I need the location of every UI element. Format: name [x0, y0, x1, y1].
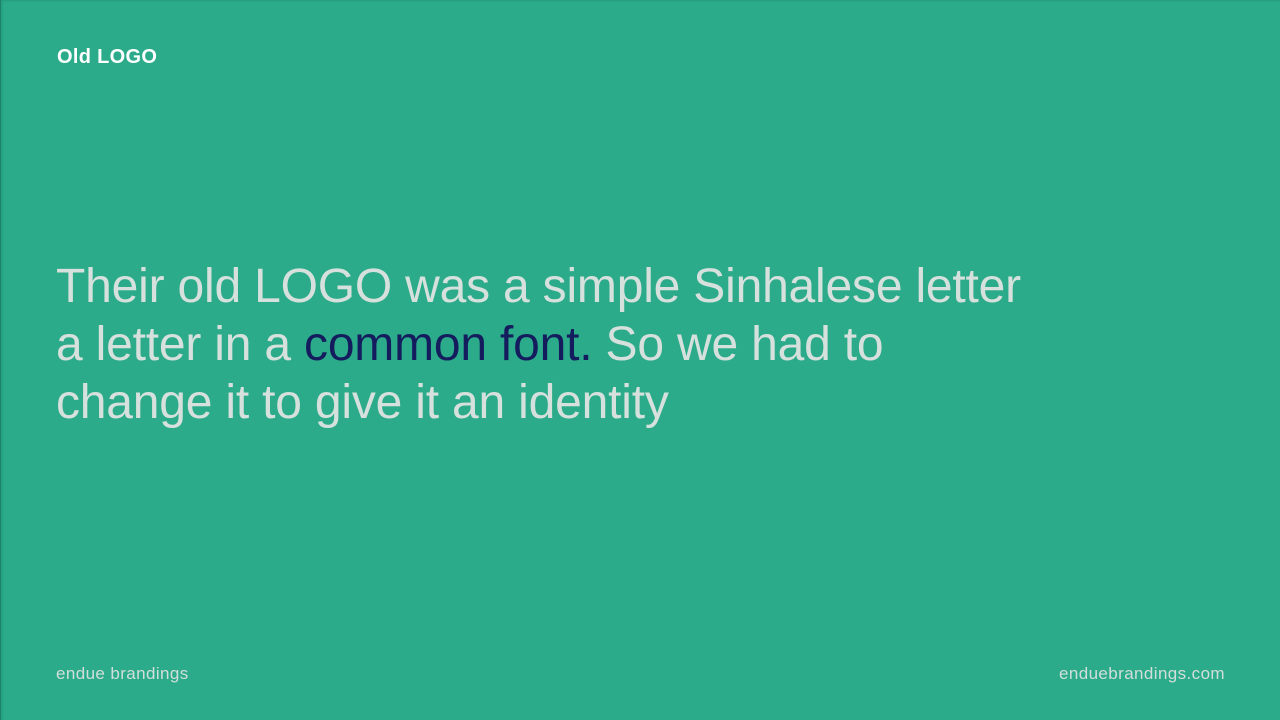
headline-line-2-prefix: a letter in a [56, 318, 304, 371]
headline-line-2-suffix: So we had to [592, 318, 883, 371]
slide-logo-label: Old LOGO [57, 47, 157, 67]
footer-brand-name: endue brandings [56, 664, 189, 684]
headline-line-3-text: change it to give it an identity [56, 376, 669, 429]
footer-website-url: enduebrandings.com [1059, 664, 1225, 684]
headline-line-3: change it to give it an identity [56, 374, 1176, 432]
headline-accent-phrase: common font. [304, 318, 592, 371]
headline-block: Their old LOGO was a simple Sinhalese le… [56, 258, 1176, 432]
headline-line-1-text: Their old LOGO was a simple Sinhalese le… [56, 260, 1021, 313]
slide-top-edge-accent [0, 0, 1280, 3]
headline-line-1: Their old LOGO was a simple Sinhalese le… [56, 258, 1176, 316]
headline-line-2: a letter in a common font. So we had to [56, 316, 1176, 374]
slide-left-edge-accent [0, 0, 4, 720]
